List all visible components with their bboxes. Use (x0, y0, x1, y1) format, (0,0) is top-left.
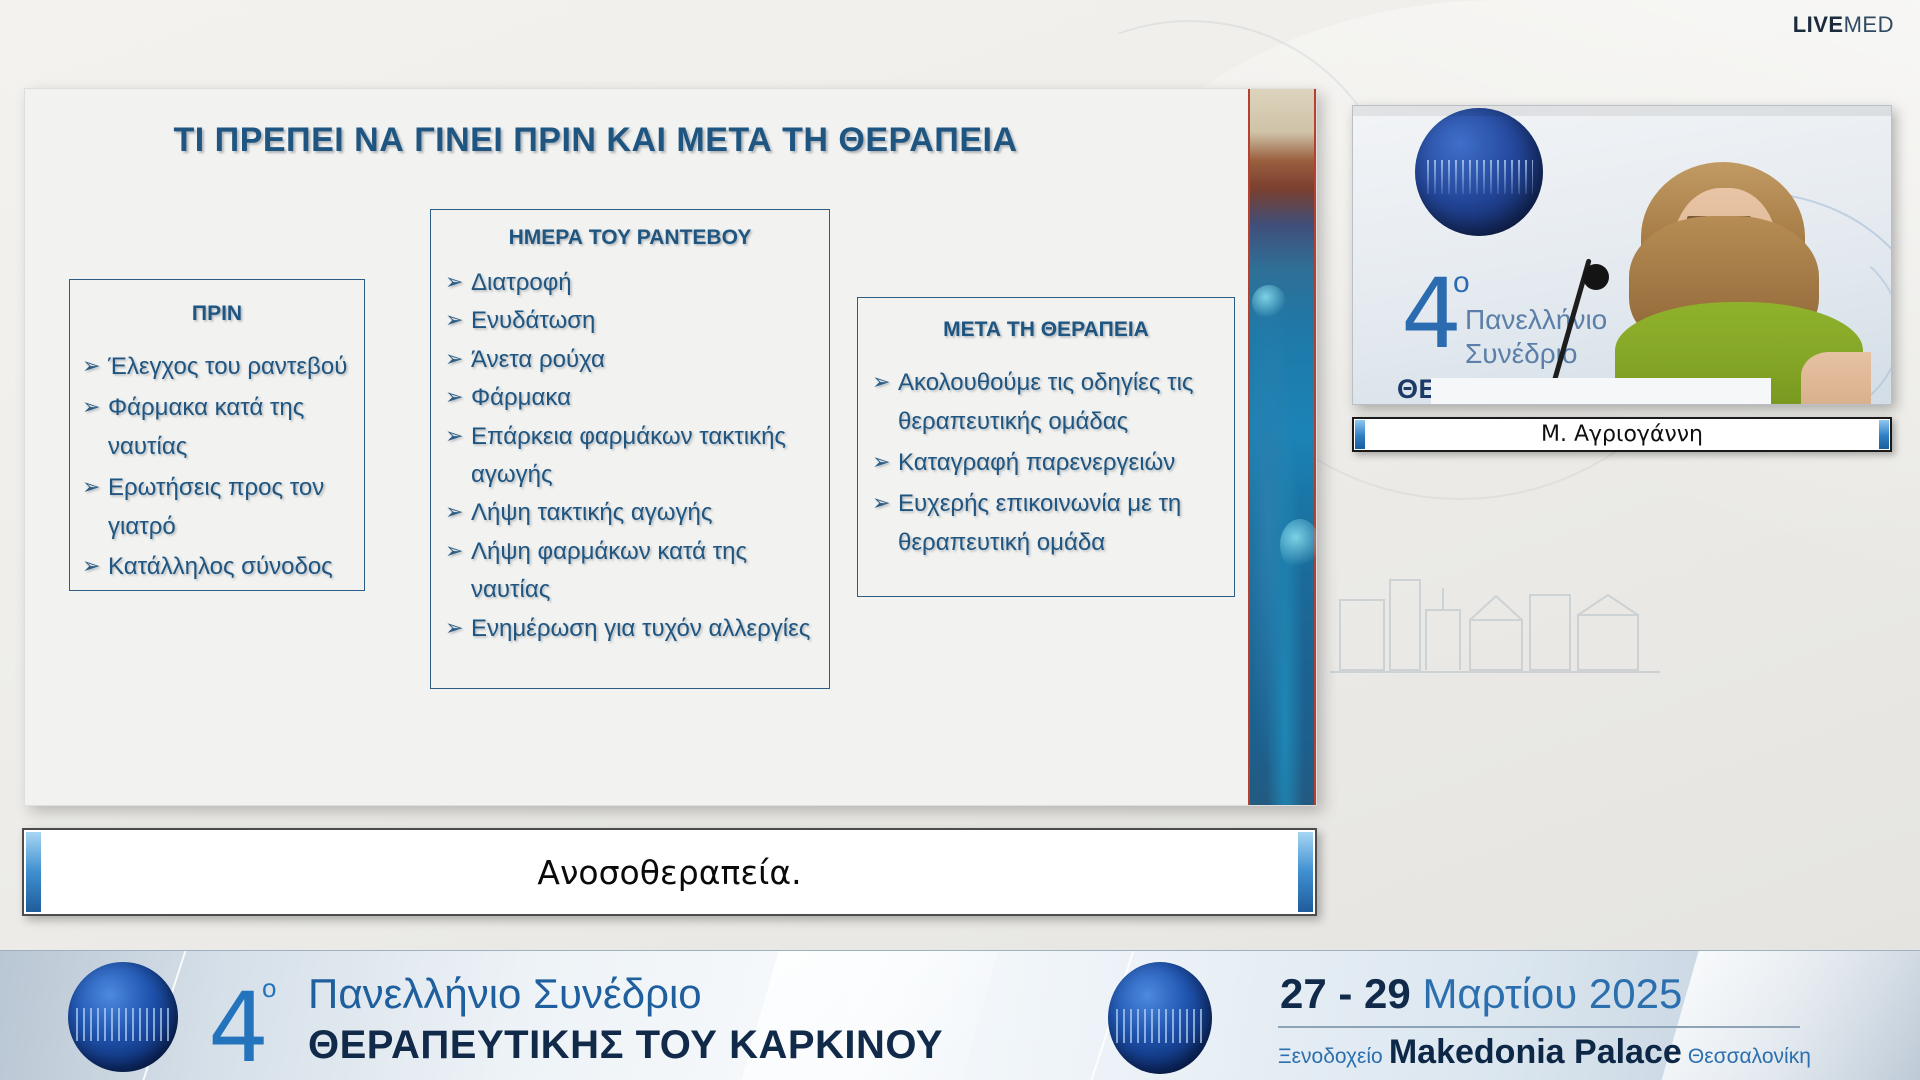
bullet-arrow-icon: ➢ (445, 418, 463, 453)
speaker-figure (1615, 152, 1865, 404)
banner-globe-left-icon (68, 962, 178, 1072)
list-item: ➢Επάρκεια φαρμάκων τακτικής αγωγής (443, 418, 819, 495)
list-item: ➢Ευχερής επικοινωνία με τη θεραπευτική ο… (870, 485, 1220, 563)
banner-dates-number: 27 - 29 (1280, 970, 1411, 1017)
list-item: ➢Ακολουθούμε τις οδηγίες τις θεραπευτική… (870, 364, 1220, 442)
bullet-arrow-icon: ➢ (872, 364, 890, 400)
list-item-text: Λήψη τακτικής αγωγής (471, 494, 819, 532)
list-item-text: Φάρμακα (471, 379, 819, 417)
caption-edge-right (1298, 832, 1313, 912)
slide-box-meta: ΜΕΤΑ ΤΗ ΘΕΡΑΠΕΙΑ ➢Ακολουθούμε τις οδηγίε… (857, 297, 1235, 597)
banner-degree: ο (262, 973, 276, 1004)
list-item-text: Επάρκεια φαρμάκων τακτικής αγωγής (471, 418, 819, 495)
caption-edge-left (26, 832, 41, 912)
list-item: ➢Κατάλληλος σύνοδος (80, 548, 356, 587)
bullet-arrow-icon: ➢ (445, 379, 463, 414)
banner-venue-label: Ξενοδοχείο (1278, 1045, 1383, 1068)
background-city-outline (1330, 540, 1660, 680)
slide-box-prin-heading: ΠΡΙΝ (70, 302, 364, 326)
speaker-name-bar: Μ. Αγριογάννη (1352, 417, 1892, 452)
slide-title: ΤΙ ΠΡΕΠΕΙ ΝΑ ΓΙΝΕΙ ΠΡΙΝ ΚΑΙ ΜΕΤΑ ΤΗ ΘΕΡΑ… (25, 121, 1166, 160)
video-backdrop-globe-icon (1415, 108, 1543, 236)
cell-blob-icon (1280, 519, 1317, 571)
slide-box-prin-list: ➢Έλεγχος του ραντεβού ➢Φάρμακα κατά της … (80, 348, 356, 587)
banner-dates-month: Μαρτίου 2025 (1422, 970, 1682, 1017)
livemed-logo-live: LIVE (1793, 12, 1844, 37)
list-item-text: Έλεγχος του ραντεβού (108, 348, 356, 387)
banner-venue-name: Makedonia Palace (1389, 1033, 1682, 1071)
list-item-text: Κατάλληλος σύνοδος (108, 548, 356, 587)
list-item-text: Ερωτήσεις προς τον γιατρό (108, 469, 356, 547)
list-item: ➢Λήψη φαρμάκων κατά της ναυτίας (443, 533, 819, 610)
video-backdrop-line1: Πανελλήνιο (1465, 304, 1607, 336)
banner-line1: Πανελλήνιο Συνέδριο (308, 970, 702, 1018)
bullet-arrow-icon: ➢ (445, 341, 463, 376)
bullet-arrow-icon: ➢ (445, 302, 463, 337)
bullet-arrow-icon: ➢ (82, 469, 100, 505)
bullet-arrow-icon: ➢ (872, 444, 890, 480)
list-item: ➢Ενημέρωση για τυχόν αλλεργίες (443, 610, 819, 648)
list-item-text: Διατροφή (471, 264, 819, 302)
livemed-logo-med: MED (1844, 12, 1894, 37)
livemed-logo: LIVEMED (1793, 14, 1894, 36)
slide-box-meta-list: ➢Ακολουθούμε τις οδηγίες τις θεραπευτική… (870, 364, 1220, 562)
list-item: ➢Φάρμακα (443, 379, 819, 417)
banner-divider (1278, 1026, 1800, 1028)
speaker-desk (1431, 378, 1771, 404)
banner-dates: 27 - 29 Μαρτίου 2025 (1280, 970, 1682, 1018)
bullet-arrow-icon: ➢ (445, 494, 463, 529)
banner-line2: ΘΕΡΑΠΕΥΤΙΚΗΣ ΤΟΥ ΚΑΡΚΙΝΟΥ (308, 1023, 943, 1068)
list-item: ➢Φάρμακα κατά της ναυτίας (80, 389, 356, 467)
banner-venue: Ξενοδοχείο Makedonia Palace Θεσσαλονίκη (1278, 1033, 1811, 1072)
list-item-text: Ενυδάτωση (471, 302, 819, 340)
slide-box-prin: ΠΡΙΝ ➢Έλεγχος του ραντεβού ➢Φάρμακα κατά… (69, 279, 365, 591)
list-item: ➢Ερωτήσεις προς τον γιατρό (80, 469, 356, 547)
caption-text: Ανοσοθεραπεία. (537, 853, 801, 892)
microphone-head-icon (1583, 264, 1609, 290)
list-item-text: Λήψη φαρμάκων κατά της ναυτίας (471, 533, 819, 610)
list-item: ➢Άνετα ρούχα (443, 341, 819, 379)
bullet-arrow-icon: ➢ (445, 264, 463, 299)
list-item-text: Ακολουθούμε τις οδηγίες τις θεραπευτικής… (898, 364, 1220, 442)
speaker-name-text: Μ. Αγριογάννη (1541, 422, 1703, 447)
conference-banner: 4 ο Πανελλήνιο Συνέδριο ΘΕΡΑΠΕΥΤΙΚΗΣ ΤΟΥ… (0, 950, 1920, 1080)
video-backdrop-degree: ο (1453, 266, 1470, 300)
list-item: ➢Έλεγχος του ραντεβού (80, 348, 356, 387)
banner-ordinal: 4 (208, 980, 269, 1076)
name-bar-edge-right (1879, 420, 1889, 449)
bullet-arrow-icon: ➢ (82, 548, 100, 584)
list-item: ➢Λήψη τακτικής αγωγής (443, 494, 819, 532)
speaker-arm (1801, 352, 1871, 405)
slide-box-imera-list: ➢Διατροφή ➢Ενυδάτωση ➢Άνετα ρούχα ➢Φάρμα… (443, 264, 819, 648)
slide-box-imera-heading: ΗΜΕΡΑ ΤΟΥ ΡΑΝΤΕΒΟΥ (431, 226, 829, 250)
list-item-text: Φάρμακα κατά της ναυτίας (108, 389, 356, 467)
slide-cell-image-strip (1248, 89, 1316, 805)
list-item-text: Άνετα ρούχα (471, 341, 819, 379)
list-item: ➢Διατροφή (443, 264, 819, 302)
banner-venue-city: Θεσσαλονίκη (1688, 1045, 1811, 1068)
video-top-shade (1353, 106, 1891, 116)
list-item-text: Ενημέρωση για τυχόν αλλεργίες (471, 610, 819, 648)
slide-box-meta-heading: ΜΕΤΑ ΤΗ ΘΕΡΑΠΕΙΑ (858, 318, 1234, 342)
bullet-arrow-icon: ➢ (872, 485, 890, 521)
list-item-text: Καταγραφή παρενεργειών (898, 444, 1220, 483)
speaker-video-panel[interactable]: 4 ο Πανελλήνιο Συνέδριο ΘΕΡΑΠΕΥΤΙΚΗΣ (1352, 105, 1892, 405)
slide-box-imera: ΗΜΕΡΑ ΤΟΥ ΡΑΝΤΕΒΟΥ ➢Διατροφή ➢Ενυδάτωση … (430, 209, 830, 689)
name-bar-edge-left (1355, 420, 1365, 449)
caption-bar: Ανοσοθεραπεία. (22, 828, 1317, 916)
bullet-arrow-icon: ➢ (445, 533, 463, 568)
list-item-text: Ευχερής επικοινωνία με τη θεραπευτική ομ… (898, 485, 1220, 563)
list-item: ➢Ενυδάτωση (443, 302, 819, 340)
presentation-slide[interactable]: ΤΙ ΠΡΕΠΕΙ ΝΑ ΓΙΝΕΙ ΠΡΙΝ ΚΑΙ ΜΕΤΑ ΤΗ ΘΕΡΑ… (24, 88, 1317, 806)
bullet-arrow-icon: ➢ (82, 348, 100, 384)
banner-globe-right-icon (1108, 962, 1212, 1074)
bullet-arrow-icon: ➢ (82, 389, 100, 425)
list-item: ➢Καταγραφή παρενεργειών (870, 444, 1220, 483)
cell-blob-icon (1252, 285, 1286, 319)
bullet-arrow-icon: ➢ (445, 610, 463, 645)
